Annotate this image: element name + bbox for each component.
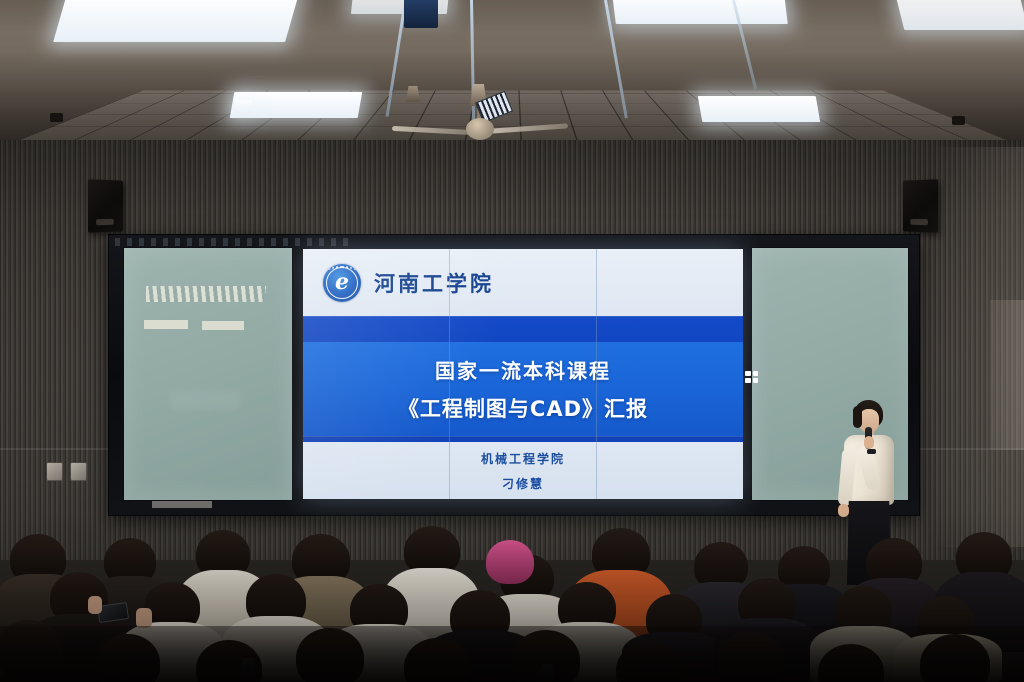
ceiling-light-panel	[612, 0, 788, 24]
video-wall-seam	[449, 249, 450, 499]
audience-head-pink-hair	[486, 540, 534, 584]
audience-foreground-shadow	[0, 626, 1024, 682]
board-marker-tray	[152, 501, 212, 508]
grid-dot	[753, 378, 759, 383]
grid-menu-icon[interactable]	[745, 371, 758, 383]
university-emblem-icon: e	[323, 264, 361, 302]
grid-dot	[745, 378, 751, 383]
wall-speaker-left	[88, 179, 123, 232]
video-wall-seam	[596, 249, 597, 499]
ceiling-light-panel	[698, 96, 821, 122]
grid-dot	[745, 371, 751, 376]
slide-footer: 机械工程学院 刁修慧	[303, 442, 743, 499]
ceiling-sensor-icon	[50, 113, 63, 122]
projector-unit	[404, 0, 438, 28]
ceiling-light-panel	[896, 0, 1024, 30]
slide-accent-band	[303, 316, 743, 342]
institution-name: 河南工学院	[374, 268, 494, 298]
light-switch-plate[interactable]	[70, 462, 87, 481]
ceiling-light-panel	[236, 100, 252, 114]
wall-speaker-right	[903, 179, 938, 232]
slide-title-line-2: 《工程制图与CAD》汇报	[398, 393, 648, 423]
ceiling	[0, 0, 1024, 146]
ceiling-light-panel	[53, 0, 299, 42]
chalk-mark	[144, 320, 188, 329]
chalk-mark	[202, 321, 244, 330]
department-name: 机械工程学院	[481, 450, 565, 467]
audience-hand	[136, 608, 152, 628]
ceiling-fan-motor	[466, 118, 494, 140]
display-assembly[interactable]: e 河南工学院 国家一流本科课程 《工程制图与CAD》汇报 机械工程学院 刁修慧	[108, 234, 920, 516]
slide-title-line-1: 国家一流本科课程	[435, 355, 611, 384]
presenter-watch	[867, 449, 876, 454]
ceiling-sensor-icon	[952, 116, 965, 125]
presenter-hair-side	[853, 406, 862, 428]
grid-dot	[753, 371, 759, 376]
board-erase-smudge	[170, 390, 240, 410]
whiteboard-left[interactable]	[123, 247, 293, 501]
display-top-label-strip	[115, 238, 355, 246]
slide-title-band: 国家一流本科课程 《工程制图与CAD》汇报	[303, 342, 743, 436]
presenter-hand	[864, 436, 874, 449]
audience	[0, 512, 1024, 682]
chalk-marks	[146, 286, 266, 302]
slide-header: e 河南工学院	[303, 249, 743, 316]
presenter-name: 刁修慧	[502, 475, 544, 492]
light-switch-plate[interactable]	[46, 462, 63, 481]
lecture-hall-photo: e 河南工学院 国家一流本科课程 《工程制图与CAD》汇报 机械工程学院 刁修慧	[0, 0, 1024, 682]
video-wall-seam	[303, 436, 743, 437]
video-wall-seam	[303, 316, 743, 317]
emblem-letter: e	[335, 271, 349, 293]
audience-hand	[88, 596, 102, 614]
presentation-slide[interactable]: e 河南工学院 国家一流本科课程 《工程制图与CAD》汇报 机械工程学院 刁修慧	[303, 249, 743, 499]
